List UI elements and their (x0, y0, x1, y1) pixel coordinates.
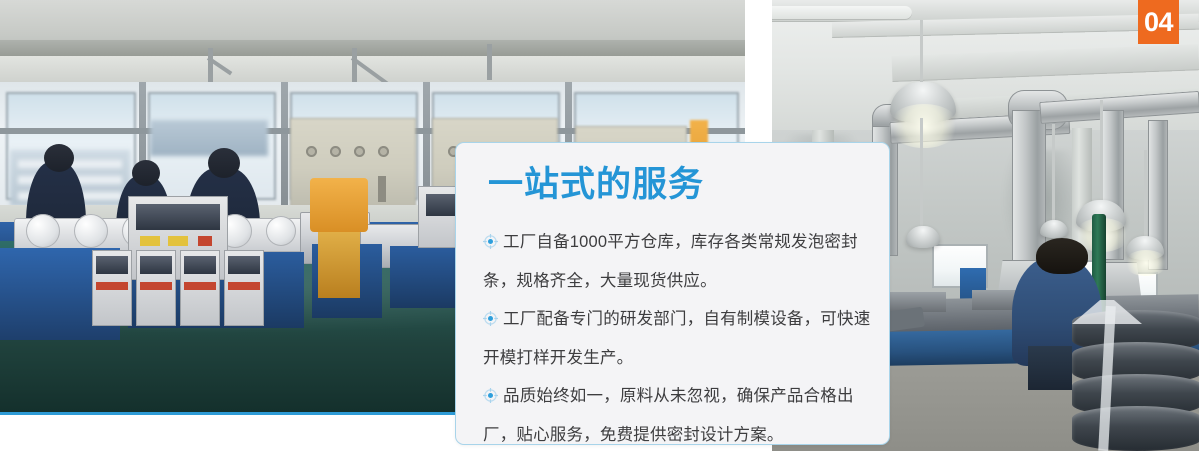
photo-pendant-lamp (1040, 220, 1068, 238)
service-bullet-list: 工厂自备1000平方仓库，库存各类常规发泡密封条，规格齐全，大量现货供应。 工厂… (483, 223, 871, 445)
photo-safety-guard (310, 178, 368, 232)
photo-coil (1072, 406, 1199, 451)
photo-worker-stool (1028, 346, 1072, 390)
photo-distant-building (150, 120, 268, 156)
step-number-label: 04 (1144, 9, 1173, 36)
list-item-text: 品质始终如一，原料从未忽视，确保产品合格出厂，贴心服务，免费提供密封设计方案。 (483, 387, 854, 444)
photo-controller-led (184, 282, 216, 290)
photo-controller-display (184, 256, 216, 274)
photo-lamp-cord (1052, 124, 1055, 224)
photo-cabinet-dial (354, 146, 365, 157)
photo-worker-head (132, 160, 160, 186)
photo-lamp-cord (1144, 150, 1147, 240)
target-dot-icon (483, 311, 498, 326)
photo-panel-button (198, 236, 212, 246)
step-number-badge: 04 (1138, 0, 1179, 44)
card-title: 一站式的服务 (488, 167, 704, 202)
photo-roller (266, 216, 296, 246)
photo-ceiling-pipe (772, 6, 912, 20)
photo-controller-display (140, 256, 172, 274)
photo-safety-guard-leg (318, 232, 360, 298)
photo-hanger (487, 44, 492, 80)
photo-panel-screen (136, 204, 220, 230)
list-item-text: 工厂配备专门的研发部门，自有制模设备，可快速开模打样开发生产。 (483, 310, 870, 367)
list-item: 工厂自备1000平方仓库，库存各类常规发泡密封条，规格齐全，大量现货供应。 (483, 223, 871, 300)
photo-controller-led (228, 282, 260, 290)
photo-lamp-cord (1100, 100, 1103, 206)
photo-worker-hair (1036, 238, 1088, 274)
photo-controller-led (96, 282, 128, 290)
photo-worker-head (208, 148, 240, 178)
photo-lamp-glow (888, 104, 960, 148)
photo-mullion (281, 82, 288, 210)
photo-cabinet-dial (306, 146, 317, 157)
photo-roller (74, 214, 108, 248)
photo-roller (26, 214, 60, 248)
list-item: 品质始终如一，原料从未忽视，确保产品合格出厂，贴心服务，免费提供密封设计方案。 (483, 377, 871, 445)
photo-panel-indicator (168, 236, 188, 246)
target-dot-icon (483, 234, 498, 249)
photo-lamp-cord (920, 20, 923, 84)
photo-controller-display (228, 256, 260, 274)
photo-panel-indicator (140, 236, 160, 246)
list-item-text: 工厂自备1000平方仓库，库存各类常规发泡密封条，规格齐全，大量现货供应。 (483, 233, 858, 290)
photo-cabinet-handle (378, 176, 386, 202)
promo-banner: 04 一站式的服务 工厂自备1000平方仓库，库存各类常规发泡密封条，规格齐全，… (0, 0, 1199, 451)
photo-pendant-lamp (906, 226, 940, 248)
photo-lamp-glow (1124, 250, 1168, 276)
photo-cabinet-dial (378, 146, 389, 157)
photo-controller-display (96, 256, 128, 274)
service-info-card: 一站式的服务 工厂自备1000平方仓库，库存各类常规发泡密封条，规格齐全，大量现… (455, 142, 890, 445)
photo-controller-led (140, 282, 172, 290)
target-dot-icon (483, 388, 498, 403)
photo-worker-head (44, 144, 74, 172)
list-item: 工厂配备专门的研发部门，自有制模设备，可快速开模打样开发生产。 (483, 300, 871, 377)
photo-wall-strip (0, 56, 745, 82)
photo-lamp-cord (920, 118, 923, 230)
photo-cabinet-dial (330, 146, 341, 157)
